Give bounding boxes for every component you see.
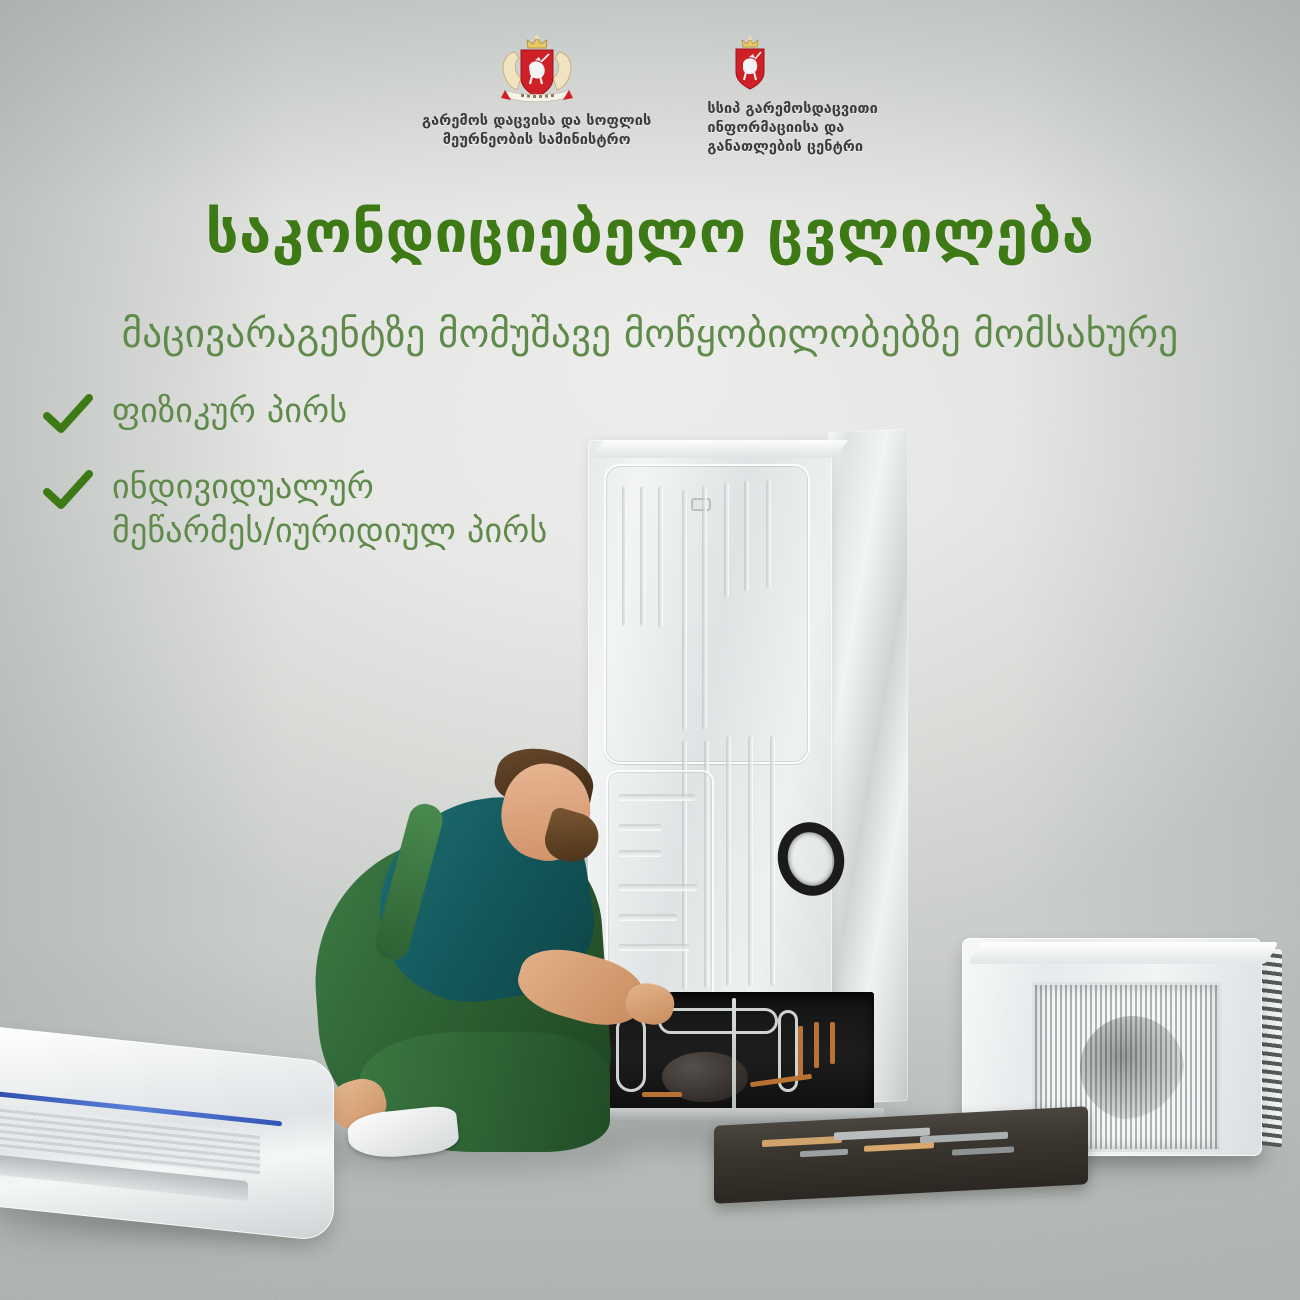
ac-indoor-unit (0, 1044, 334, 1224)
bullet-list: ფიზიკურ პირს ინდივიდუალურ მეწარმეს/იურიდ… (42, 390, 547, 553)
center-caption-line2: ინფორმაციისა და (707, 119, 878, 138)
ministry-caption-line2: მეურნეობის სამინისტრო (422, 131, 651, 150)
bullet-item: ინდივიდუალურ მეწარმეს/იურიდიულ პირს (42, 466, 547, 553)
copper-tube (814, 1022, 819, 1068)
center-caption-line1: სსიპ გარემოსდაცვითი (707, 100, 878, 119)
center-logo-caption: სსიპ გარემოსდაცვითი ინფორმაციისა და განა… (707, 100, 878, 157)
bullet-item: ფიზიკურ პირს (42, 390, 547, 438)
refrigerator-rib (724, 482, 729, 598)
header-logos: გარემოს დაცვისა და სოფლის მეურნეობის სამ… (0, 34, 1300, 157)
refrigerator-rib (766, 480, 771, 588)
refrigerator-top-edge (590, 440, 848, 458)
poster-subtitle: მაცივარაგენტზე მომუშავე მოწყობილობებზე მ… (0, 312, 1300, 357)
refrigerator-rib (702, 486, 707, 730)
drain-tube (732, 998, 736, 1116)
bullet-label: ფიზიკურ პირს (112, 390, 347, 434)
refrigerator-rib (748, 736, 753, 986)
center-caption-line3: განათლების ცენტრი (707, 138, 878, 157)
refrigerator-rib (770, 736, 775, 986)
toolbox-tray (714, 1106, 1088, 1204)
check-icon (42, 392, 94, 438)
check-icon (42, 468, 94, 514)
georgia-shield-crown-icon (727, 36, 773, 94)
ac-outdoor-fan (1080, 1016, 1184, 1120)
copper-tube (798, 1026, 803, 1080)
copper-tube (830, 1022, 835, 1064)
refrigerator-rib (622, 486, 627, 626)
refrigerator-vent-cutout (691, 498, 711, 511)
ministry-caption-line1: გარემოს დაცვისა და სოფლის (422, 112, 651, 131)
refrigerator-rib (744, 480, 749, 592)
refrigerator-rib (726, 736, 731, 986)
toolbox (714, 1116, 1088, 1194)
refrigerator-rib (640, 486, 645, 626)
ministry-logo-caption: გარემოს დაცვისა და სოფლის მეურნეობის სამ… (422, 112, 651, 150)
poster-title: საკონდიციებელო ცვლილება (0, 198, 1300, 266)
bullet-label: ინდივიდუალურ მეწარმეს/იურიდიულ პირს (112, 466, 547, 553)
center-logo-block: სსიპ გარემოსდაცვითი ინფორმაციისა და განა… (707, 34, 878, 157)
scene-illustration (0, 0, 1300, 1300)
ministry-logo-block: გარემოს დაცვისა და სოფლის მეურნეობის სამ… (422, 34, 651, 150)
georgia-coat-of-arms-icon (491, 34, 583, 112)
ac-outdoor-top-edge (968, 942, 1279, 964)
refrigerator-rib (658, 486, 663, 628)
technician (300, 742, 700, 1172)
refrigerator-rib (682, 490, 687, 730)
